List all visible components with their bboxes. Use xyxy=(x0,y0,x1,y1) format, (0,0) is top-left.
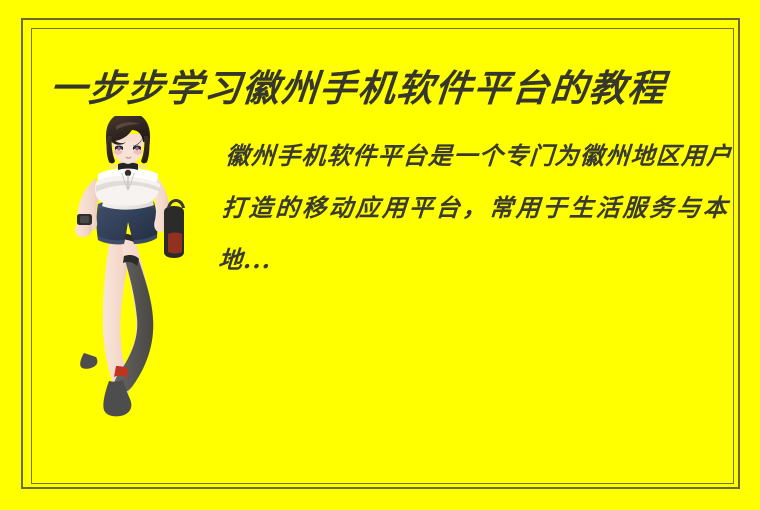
anime-girl-illustration xyxy=(72,116,202,420)
article-summary: 徽州手机软件平台是一个专门为徽州地区用户打造的移动应用平台，常用于生活服务与本地… xyxy=(217,130,734,286)
page-title: 一步步学习徽州手机软件平台的教程 xyxy=(48,62,713,114)
article-card: 一步步学习徽州手机软件平台的教程 xyxy=(0,0,760,510)
